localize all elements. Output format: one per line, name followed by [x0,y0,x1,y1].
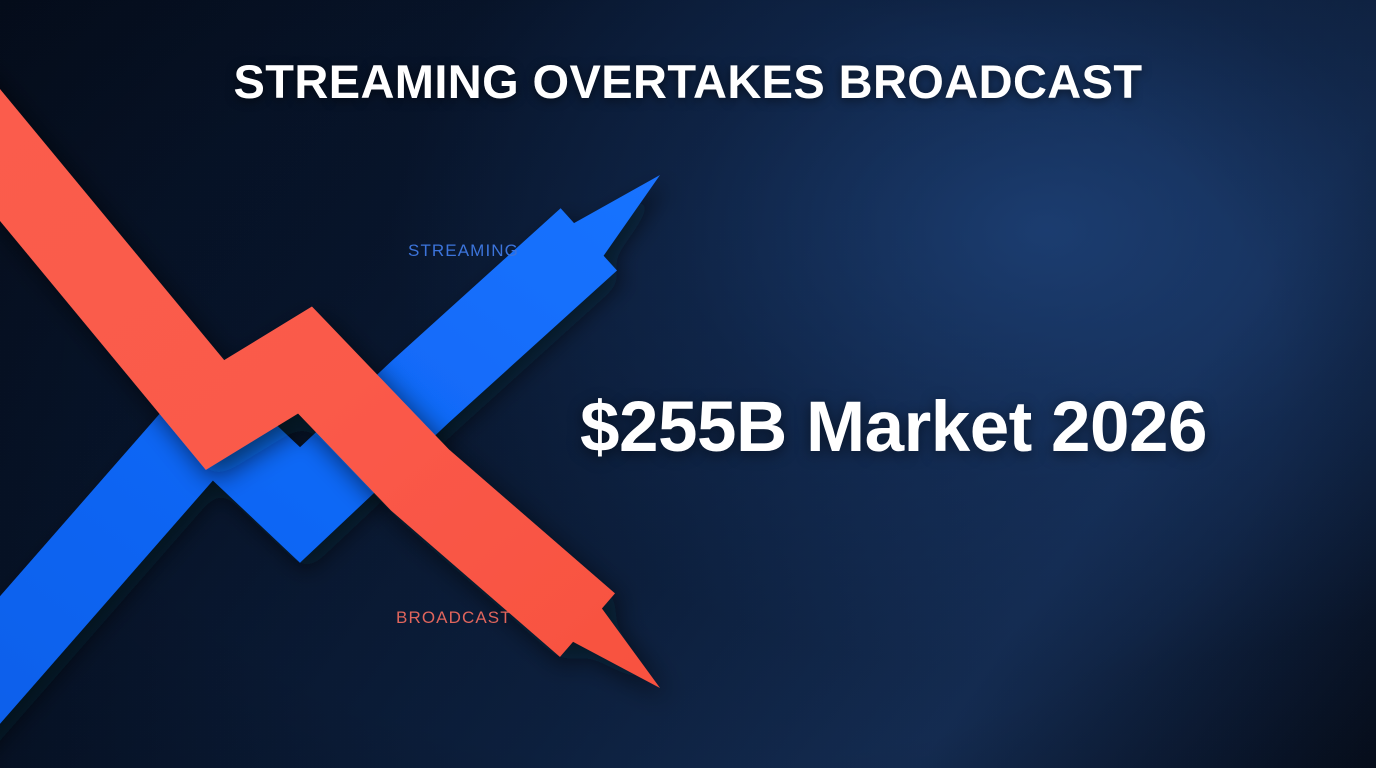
series-label-broadcast: BROADCAST [396,609,512,626]
series-label-streaming: STREAMING [408,242,519,259]
headline-stat: $255B Market 2026 [580,392,1207,463]
trend-arrows-graphic [0,0,1376,768]
page-title: STREAMING OVERTAKES BROADCAST [0,58,1376,105]
infographic-canvas: STREAMING OVERTAKES BROADCAST $255B Mark… [0,0,1376,768]
